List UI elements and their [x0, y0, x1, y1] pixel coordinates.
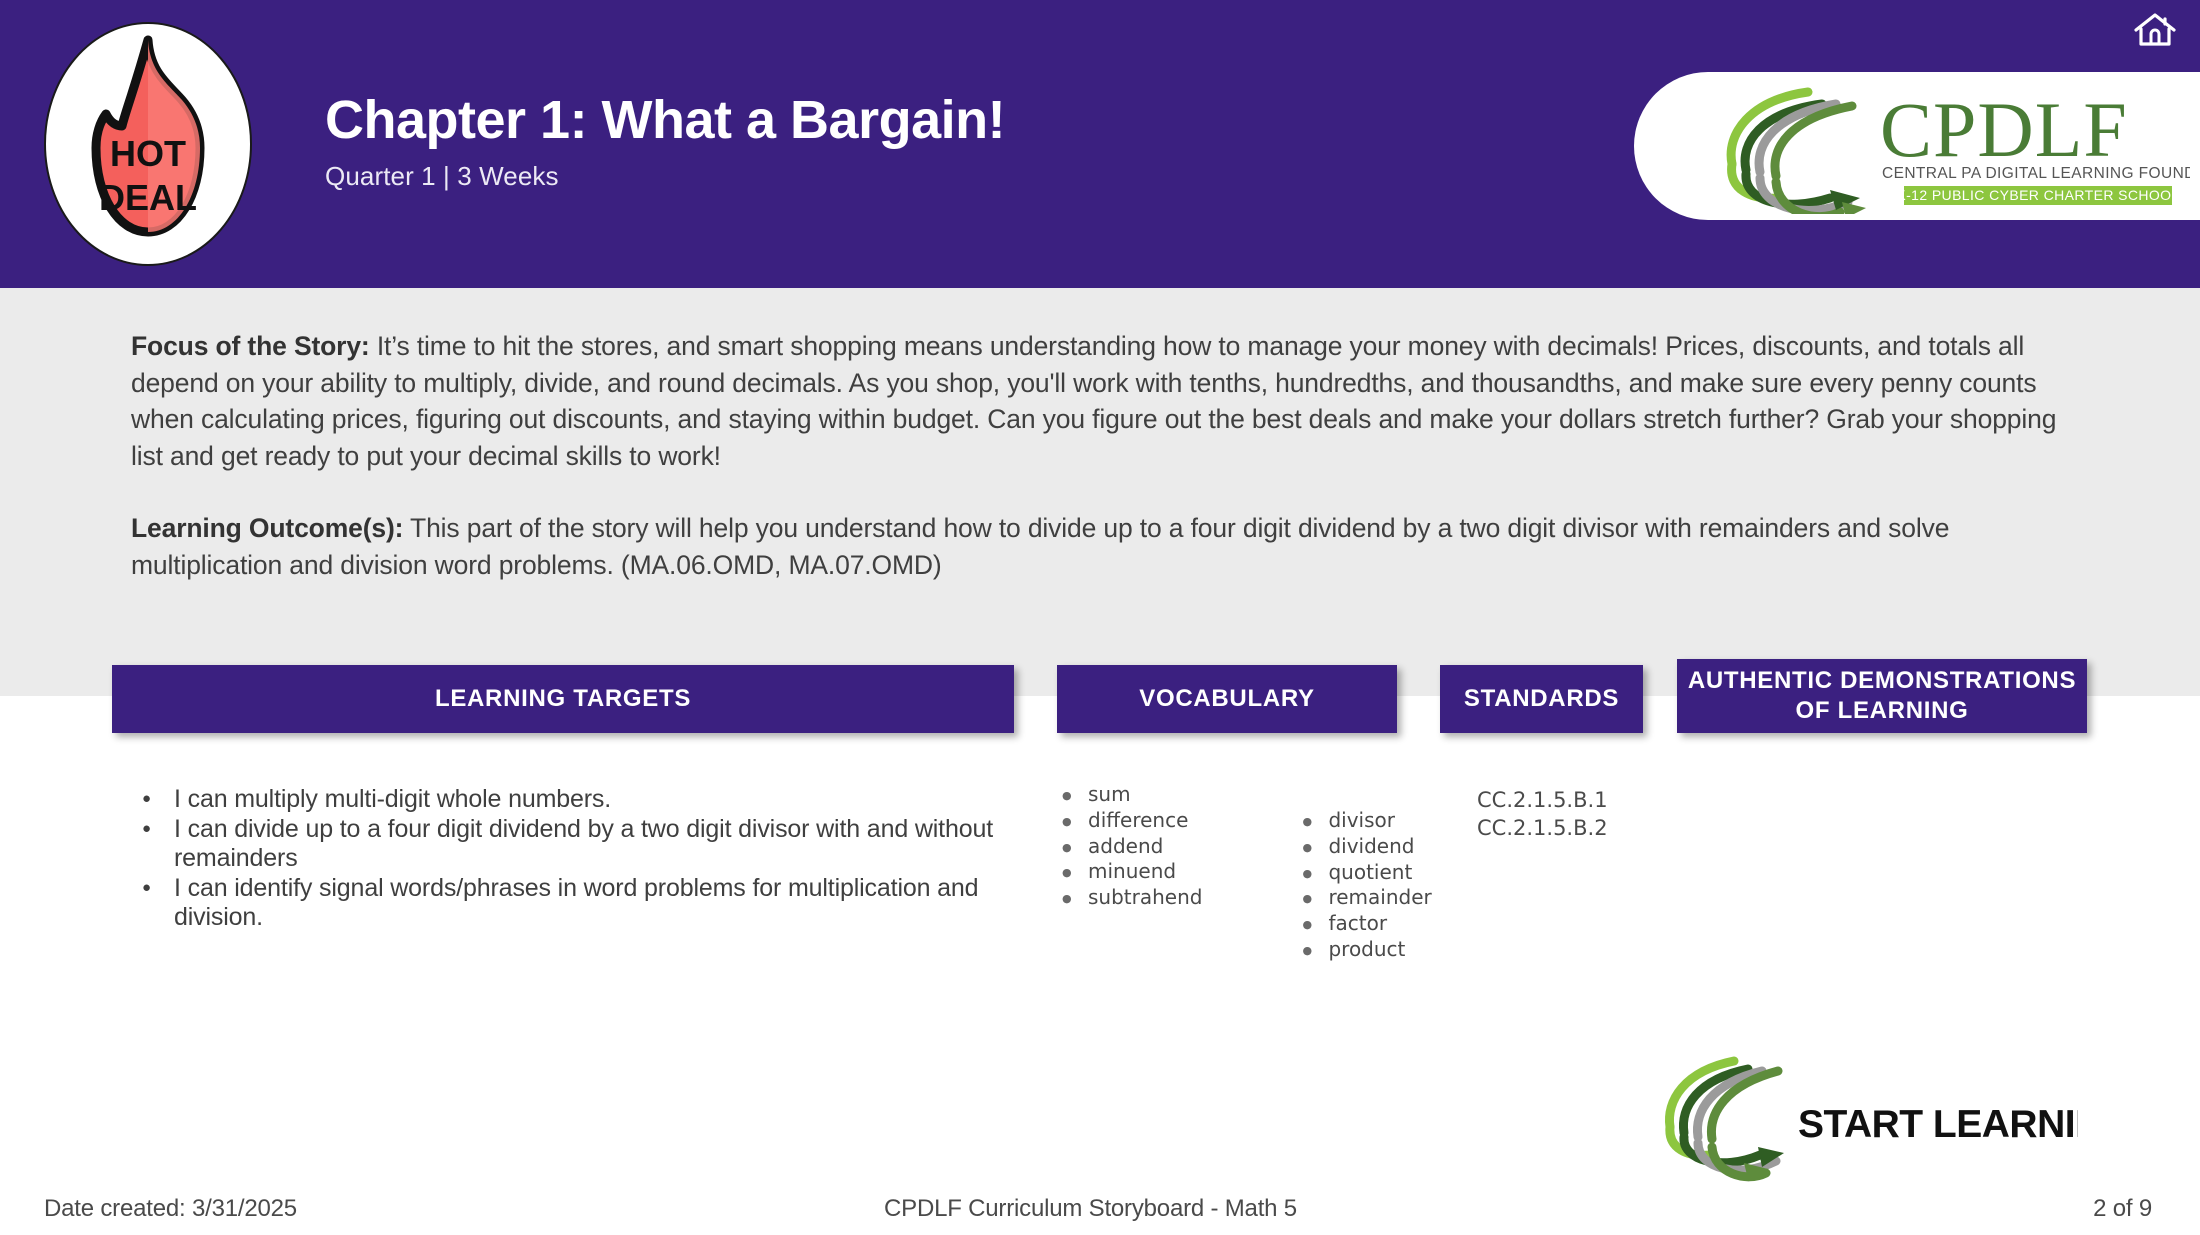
- learning-targets-list: I can multiply multi-digit whole numbers…: [118, 785, 1018, 933]
- list-item: remainder: [1298, 885, 1431, 911]
- authentic-heading-line2: OF LEARNING: [1795, 697, 1968, 724]
- start-learning-label: START LEARNING!: [1798, 1103, 2078, 1146]
- page-subtitle: Quarter 1 | 3 Weeks: [325, 161, 1005, 192]
- home-icon[interactable]: [2132, 8, 2178, 50]
- list-item: I can divide up to a four digit dividend…: [118, 815, 1018, 874]
- start-learning-banner: START LEARNING!: [1648, 1055, 2078, 1185]
- focus-text: It’s time to hit the stores, and smart s…: [131, 331, 2056, 471]
- list-item: minuend: [1058, 859, 1202, 885]
- outcome-paragraph: Learning Outcome(s): This part of the st…: [131, 510, 2061, 583]
- outcome-label: Learning Outcome(s):: [131, 513, 403, 543]
- flame-badge-icon: HOT DEAL: [42, 18, 254, 270]
- list-item: addend: [1058, 834, 1202, 860]
- badge-line1: HOT: [110, 133, 186, 174]
- list-item: I can multiply multi-digit whole numbers…: [118, 785, 1018, 815]
- logo-wordmark: CPDLF: [1880, 86, 2128, 173]
- logo-banner: K-12 PUBLIC CYBER CHARTER SCHOOL: [1896, 187, 2179, 203]
- list-item: CC.2.1.5.B.2: [1477, 814, 1608, 842]
- focus-paragraph: Focus of the Story: It’s time to hit the…: [131, 328, 2061, 474]
- cpdlf-logo: CPDLF CENTRAL PA DIGITAL LEARNING FOUNDA…: [1634, 72, 2200, 220]
- paragraph-gap: [131, 474, 2061, 510]
- outcome-text: This part of the story will help you und…: [131, 513, 1949, 580]
- list-item: CC.2.1.5.B.1: [1477, 786, 1608, 814]
- list-item: product: [1298, 937, 1431, 963]
- list-item: factor: [1298, 911, 1431, 937]
- page-title: Chapter 1: What a Bargain!: [325, 92, 1005, 149]
- list-item: dividend: [1298, 834, 1431, 860]
- list-item: quotient: [1298, 860, 1431, 886]
- standards-list: CC.2.1.5.B.1 CC.2.1.5.B.2: [1477, 786, 1608, 842]
- footer-title: CPDLF Curriculum Storyboard - Math 5: [884, 1195, 1297, 1223]
- list-item: sum: [1058, 782, 1202, 808]
- list-item: subtrahend: [1058, 885, 1202, 911]
- badge-line2: DEAL: [99, 177, 197, 218]
- authentic-heading-line1: AUTHENTIC DEMONSTRATIONS: [1688, 667, 2076, 694]
- vocabulary-heading: VOCABULARY: [1139, 684, 1314, 714]
- title-block: Chapter 1: What a Bargain! Quarter 1 | 3…: [325, 92, 1005, 192]
- vocabulary-header: VOCABULARY: [1057, 665, 1397, 733]
- authentic-heading: AUTHENTIC DEMONSTRATIONS OF LEARNING: [1688, 666, 2076, 726]
- authentic-demonstrations-header: AUTHENTIC DEMONSTRATIONS OF LEARNING: [1677, 659, 2087, 733]
- story-text: Focus of the Story: It’s time to hit the…: [131, 328, 2061, 583]
- slide: HOT DEAL Chapter 1: What a Bargain! Quar…: [0, 0, 2200, 1235]
- learning-targets-heading: LEARNING TARGETS: [435, 684, 691, 714]
- standards-heading: STANDARDS: [1464, 684, 1619, 714]
- vocabulary-column-1: sum difference addend minuend subtrahend: [1058, 782, 1202, 963]
- list-item: I can identify signal words/phrases in w…: [118, 874, 1018, 933]
- vocabulary-lists: sum difference addend minuend subtrahend…: [1058, 782, 1432, 963]
- list-item: difference: [1058, 808, 1202, 834]
- learning-targets-header: LEARNING TARGETS: [112, 665, 1014, 733]
- focus-label: Focus of the Story:: [131, 331, 370, 361]
- vocabulary-column-2: divisor dividend quotient remainder fact…: [1298, 782, 1431, 963]
- standards-header: STANDARDS: [1440, 665, 1643, 733]
- story-panel: Focus of the Story: It’s time to hit the…: [0, 288, 2200, 696]
- slide-footer: Date created: 3/31/2025 CPDLF Curriculum…: [0, 1183, 2200, 1235]
- slide-header: HOT DEAL Chapter 1: What a Bargain! Quar…: [0, 0, 2200, 288]
- logo-tagline: CENTRAL PA DIGITAL LEARNING FOUNDATION: [1882, 165, 2190, 182]
- page-number: 2 of 9: [2093, 1195, 2152, 1223]
- list-item: divisor: [1298, 808, 1431, 834]
- date-created: Date created: 3/31/2025: [44, 1195, 297, 1223]
